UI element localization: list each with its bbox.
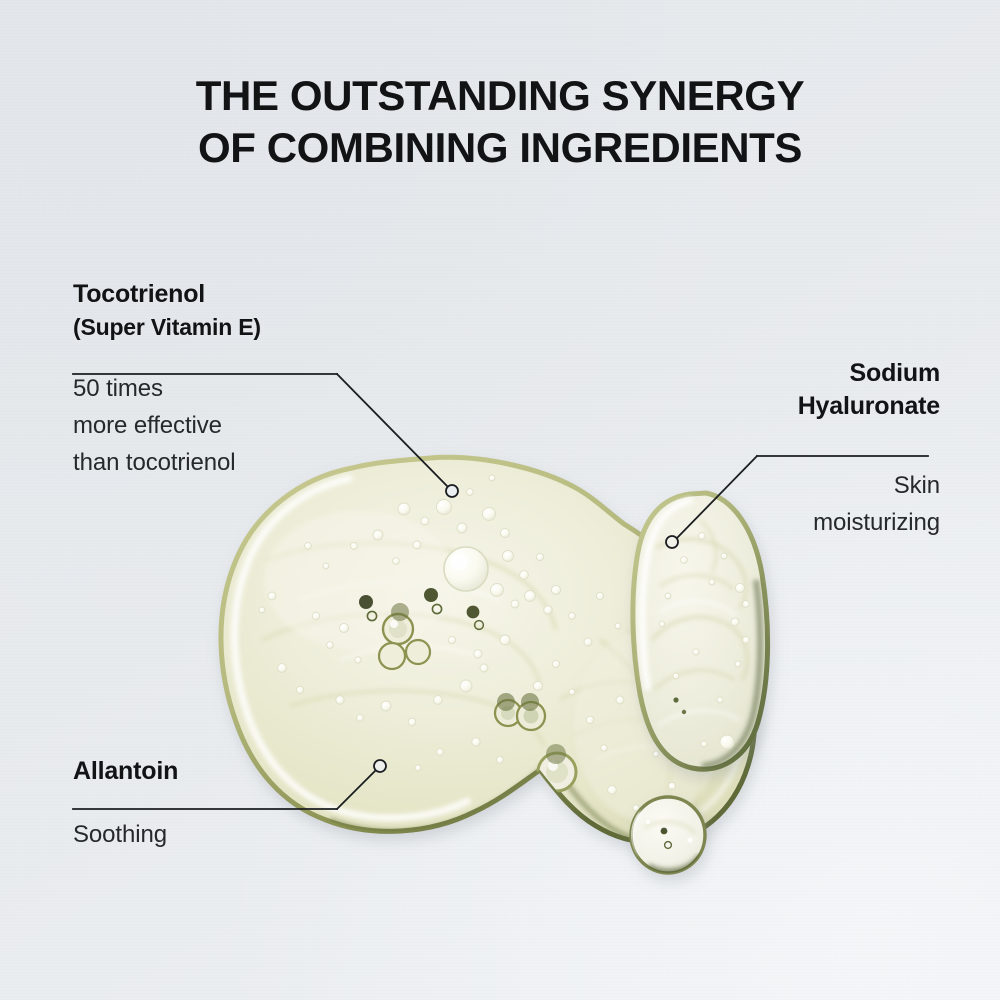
callout-title-tocotrienol: Tocotrienol xyxy=(73,278,373,311)
callout-body-sodium-hyaluronate: Skin moisturizing xyxy=(640,467,940,541)
callout-body-line: 50 times xyxy=(73,370,373,407)
callout-subtitle-sodium-hyaluronate: Hyaluronate xyxy=(640,390,940,423)
title-line-2: OF COMBINING INGREDIENTS xyxy=(0,122,1000,174)
callout-body-line: Skin xyxy=(640,467,940,504)
page-title: THE OUTSTANDING SYNERGY OF COMBINING ING… xyxy=(0,70,1000,174)
callout-sodium-hyaluronate: Sodium Hyaluronate Skin moisturizing xyxy=(640,357,940,541)
callout-title-allantoin: Allantoin xyxy=(73,755,393,788)
callout-allantoin: Allantoin Soothing xyxy=(73,755,393,853)
callout-body-line: more effective xyxy=(73,407,373,444)
callout-subtitle-tocotrienol: (Super Vitamin E) xyxy=(73,311,373,344)
callout-body-tocotrienol: 50 times more effective than tocotrienol xyxy=(73,370,373,481)
callout-title-sodium-hyaluronate: Sodium xyxy=(640,357,940,390)
callout-body-line: Soothing xyxy=(73,816,393,853)
callout-tocotrienol: Tocotrienol (Super Vitamin E) 50 times m… xyxy=(73,278,373,481)
callout-body-allantoin: Soothing xyxy=(73,816,393,853)
callout-body-line: moisturizing xyxy=(640,504,940,541)
title-line-1: THE OUTSTANDING SYNERGY xyxy=(0,70,1000,122)
callout-body-line: than tocotrienol xyxy=(73,444,373,481)
